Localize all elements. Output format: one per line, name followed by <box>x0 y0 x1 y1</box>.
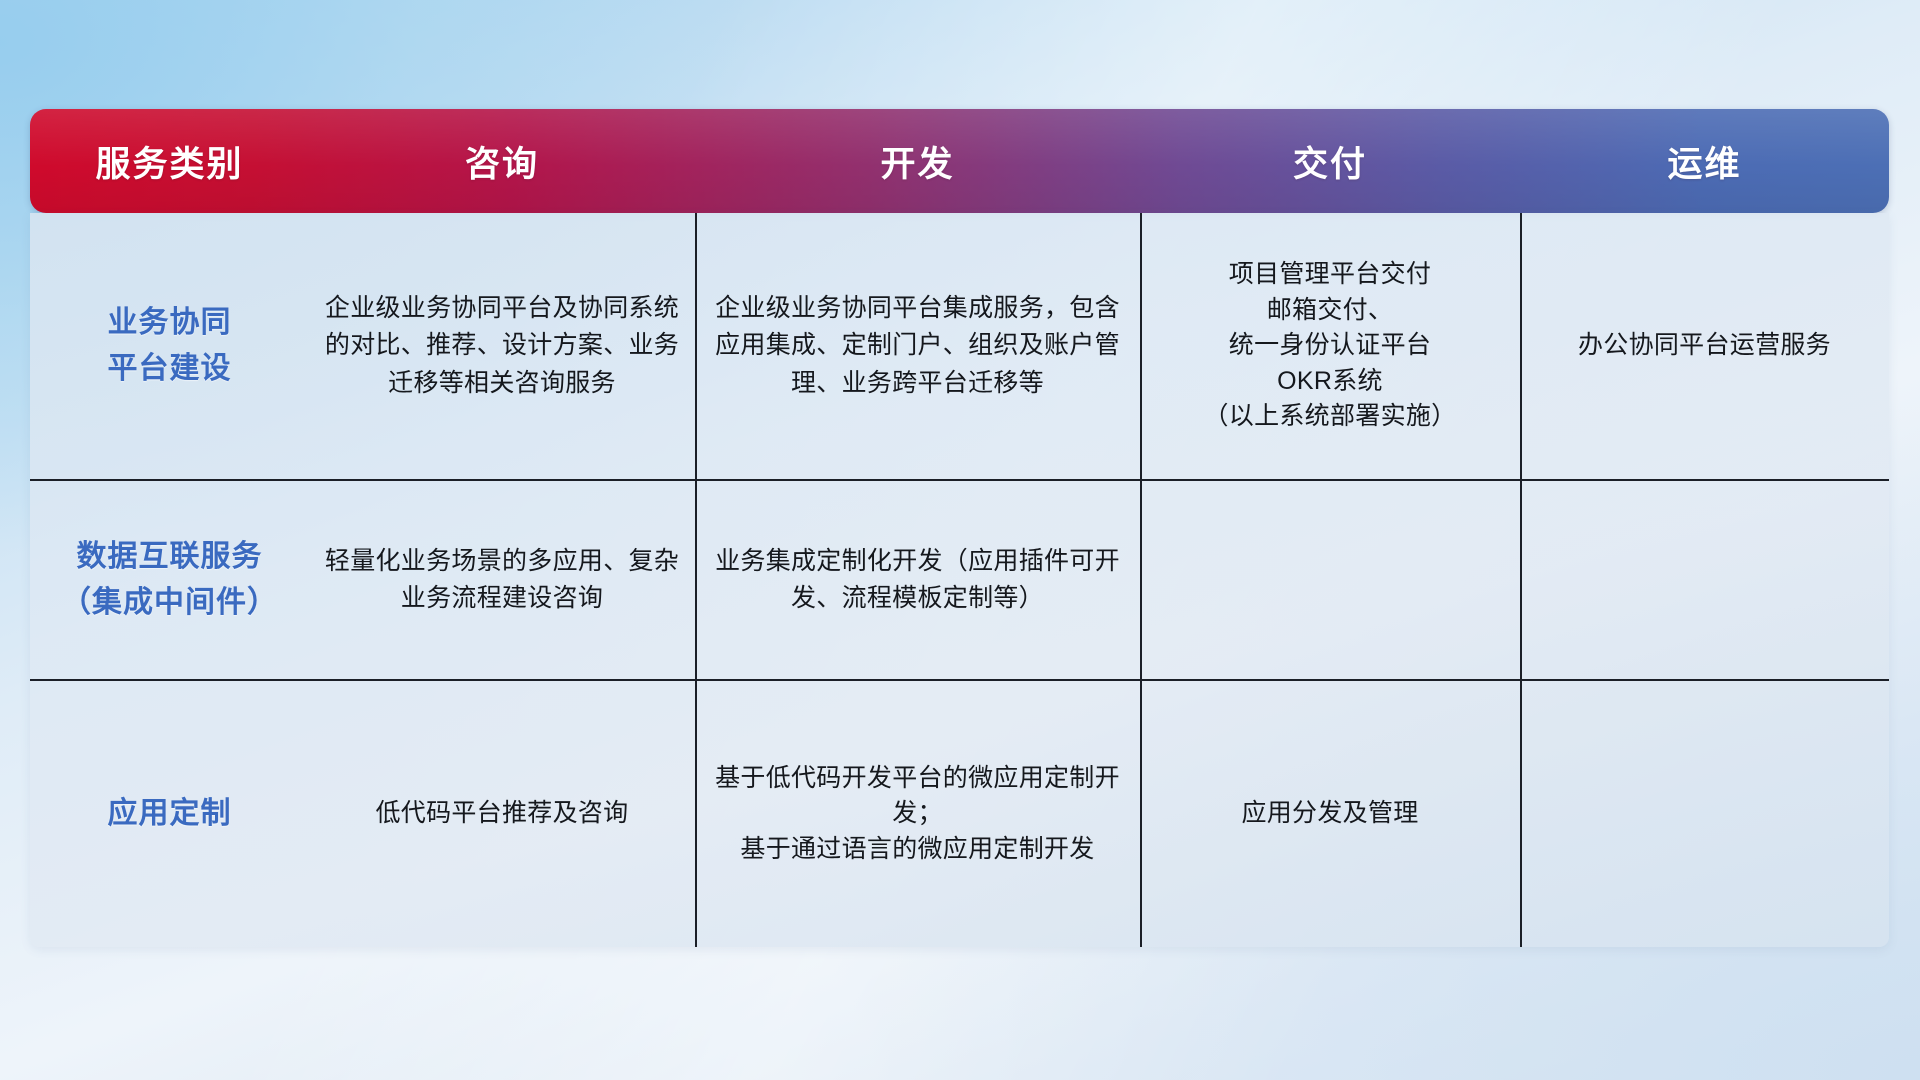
row-2-development-line-1: 基于通过语言的微应用定制开发 <box>709 832 1126 868</box>
row-2-cell-consulting: 低代码平台推荐及咨询 <box>309 681 695 947</box>
table-header-row: 服务类别 咨询 开发 交付 运维 <box>30 109 1889 213</box>
column-header-operations: 运维 <box>1520 136 1889 187</box>
column-header-delivery: 交付 <box>1140 136 1520 187</box>
row-1-cell-operations <box>1520 481 1889 679</box>
table-row: 应用定制 低代码平台推荐及咨询 基于低代码开发平台的微应用定制开发； 基于通过语… <box>30 681 1889 947</box>
column-header-category: 服务类别 <box>30 136 309 187</box>
row-1-consulting-text: 轻量化业务场景的多应用、复杂业务流程建设咨询 <box>323 543 681 618</box>
row-1-cell-consulting: 轻量化业务场景的多应用、复杂业务流程建设咨询 <box>309 481 695 679</box>
row-0-category-line-1: 平台建设 <box>108 346 232 393</box>
row-0-cell-delivery: 项目管理平台交付 邮箱交付、 统一身份认证平台 OKR系统 （以上系统部署实施） <box>1140 213 1520 479</box>
row-0-cell-category: 业务协同 平台建设 <box>30 213 309 479</box>
row-0-delivery-line-0: 项目管理平台交付 <box>1203 257 1456 293</box>
service-category-table: 服务类别 咨询 开发 交付 运维 业务协同 平台建设 企业级业务协同平台及协同系… <box>30 109 1889 947</box>
row-2-cell-delivery: 应用分发及管理 <box>1140 681 1520 947</box>
row-2-category-label: 应用定制 <box>108 791 232 838</box>
row-0-development-text: 企业级业务协同平台集成服务，包含应用集成、定制门户、组织及账户管理、业务跨平台迁… <box>709 290 1126 403</box>
row-0-category-line-0: 业务协同 <box>108 300 232 347</box>
row-1-cell-development: 业务集成定制化开发（应用插件可开发、流程模板定制等） <box>695 481 1140 679</box>
row-1-category-label: 数据互联服务 （集成中间件） <box>61 534 278 627</box>
row-2-development-text: 基于低代码开发平台的微应用定制开发； 基于通过语言的微应用定制开发 <box>709 761 1126 868</box>
row-0-delivery-line-2: 统一身份认证平台 <box>1203 328 1456 364</box>
row-1-category-line-0: 数据互联服务 <box>61 534 278 581</box>
row-2-delivery-text: 应用分发及管理 <box>1241 795 1418 833</box>
row-0-delivery-line-1: 邮箱交付、 <box>1203 293 1456 329</box>
row-1-development-text: 业务集成定制化开发（应用插件可开发、流程模板定制等） <box>709 543 1126 618</box>
row-0-cell-development: 企业级业务协同平台集成服务，包含应用集成、定制门户、组织及账户管理、业务跨平台迁… <box>695 213 1140 479</box>
row-0-delivery-line-4: （以上系统部署实施） <box>1203 399 1456 435</box>
row-2-consulting-text: 低代码平台推荐及咨询 <box>375 795 628 833</box>
row-1-cell-delivery <box>1140 481 1520 679</box>
row-2-cell-category: 应用定制 <box>30 681 309 947</box>
table-row: 数据互联服务 （集成中间件） 轻量化业务场景的多应用、复杂业务流程建设咨询 业务… <box>30 481 1889 679</box>
row-0-delivery-text: 项目管理平台交付 邮箱交付、 统一身份认证平台 OKR系统 （以上系统部署实施） <box>1203 257 1456 435</box>
row-0-consulting-text: 企业级业务协同平台及协同系统的对比、推荐、设计方案、业务迁移等相关咨询服务 <box>323 290 681 403</box>
row-0-operations-text: 办公协同平台运营服务 <box>1578 327 1831 365</box>
row-1-category-line-1: （集成中间件） <box>61 580 278 627</box>
row-0-category-label: 业务协同 平台建设 <box>108 300 232 393</box>
row-2-category-line-0: 应用定制 <box>108 791 232 838</box>
row-2-development-line-0: 基于低代码开发平台的微应用定制开发； <box>709 761 1126 832</box>
row-0-delivery-line-3: OKR系统 <box>1203 364 1456 400</box>
row-0-cell-consulting: 企业级业务协同平台及协同系统的对比、推荐、设计方案、业务迁移等相关咨询服务 <box>309 213 695 479</box>
row-0-cell-operations: 办公协同平台运营服务 <box>1520 213 1889 479</box>
table-body: 业务协同 平台建设 企业级业务协同平台及协同系统的对比、推荐、设计方案、业务迁移… <box>30 213 1889 947</box>
table-row: 业务协同 平台建设 企业级业务协同平台及协同系统的对比、推荐、设计方案、业务迁移… <box>30 213 1889 479</box>
row-2-cell-operations <box>1520 681 1889 947</box>
column-header-consulting: 咨询 <box>309 136 695 187</box>
column-header-development: 开发 <box>695 136 1140 187</box>
row-1-cell-category: 数据互联服务 （集成中间件） <box>30 481 309 679</box>
row-2-cell-development: 基于低代码开发平台的微应用定制开发； 基于通过语言的微应用定制开发 <box>695 681 1140 947</box>
